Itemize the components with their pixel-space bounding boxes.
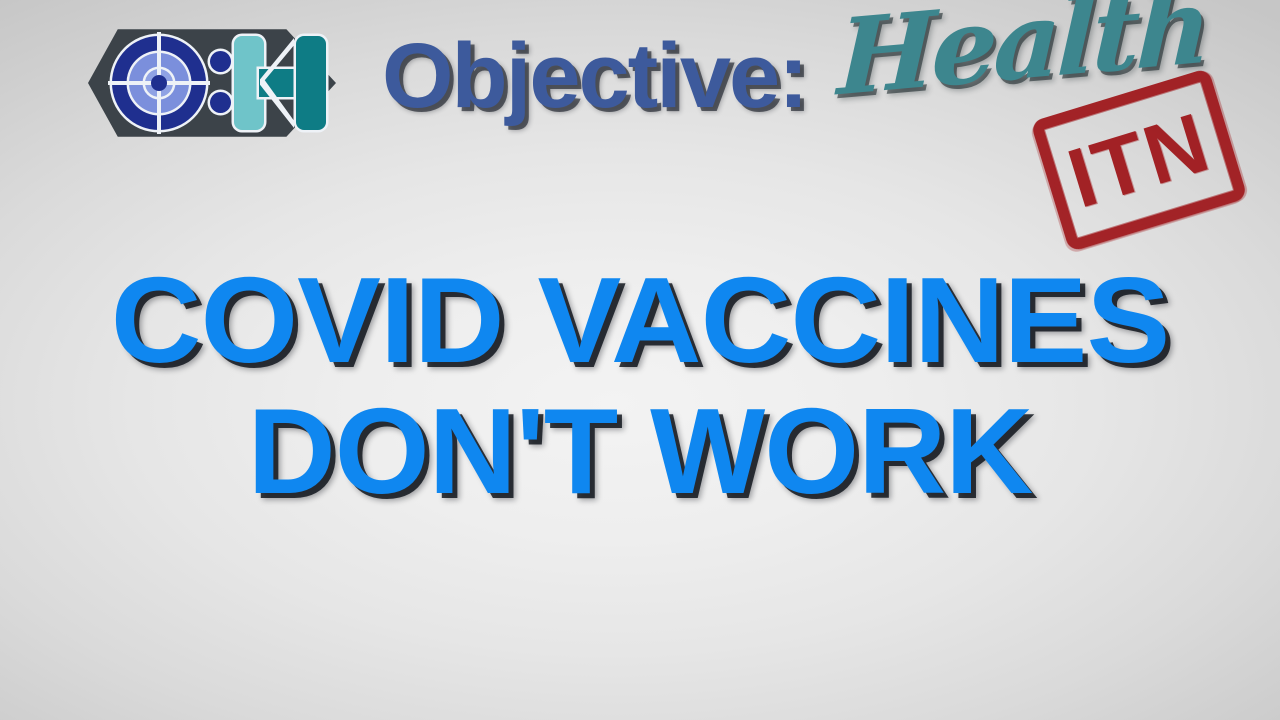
brand-bar: Objective: Health ITN <box>0 0 1280 175</box>
h-stem-right <box>296 36 326 130</box>
colon-dot-bottom <box>210 92 231 113</box>
colon-dots-icon <box>210 51 232 115</box>
target-bullseye <box>151 75 167 91</box>
headline-line-1: COVID VACCINES <box>0 255 1280 386</box>
objective-health-logo <box>88 27 336 139</box>
title-card-canvas: Objective: Health ITN COVID VACCINES DON… <box>0 0 1280 720</box>
letter-h-icon <box>234 36 326 130</box>
wordmark-objective: Objective: <box>382 30 807 122</box>
target-crosshair-icon <box>112 36 206 130</box>
colon-dot-top <box>210 51 231 72</box>
headline-line-2: DON'T WORK <box>0 386 1280 517</box>
headline-block: COVID VACCINES DON'T WORK <box>0 255 1280 516</box>
